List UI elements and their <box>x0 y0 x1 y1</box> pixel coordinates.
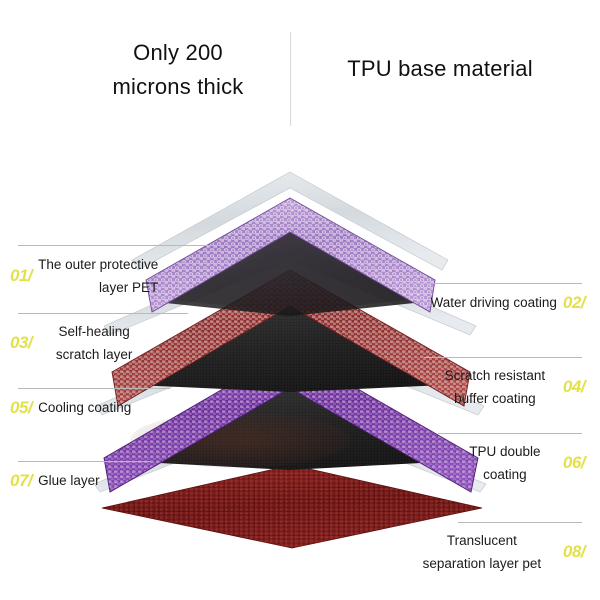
label-group-07[interactable]: 07/ Glue layer <box>10 469 200 492</box>
label-text-03: Self-healing scratch layer <box>32 320 156 366</box>
label-group-05[interactable]: 05/ Cooling coating <box>10 396 200 419</box>
label-text-01: The outer protective layer PET <box>32 253 164 299</box>
label-group-06[interactable]: TPU double coating 06/ <box>380 440 585 486</box>
header-right-text: TPU base material <box>306 52 574 86</box>
label-group-08[interactable]: Translucent separation layer pet 08/ <box>370 529 585 575</box>
label-number-01: 01/ <box>10 266 32 286</box>
leader-line-06 <box>438 433 582 434</box>
label-text-08: Translucent separation layer pet <box>401 529 563 575</box>
leader-line-04 <box>424 357 582 358</box>
label-group-03[interactable]: 03/ Self-healing scratch layer <box>10 320 200 366</box>
label-group-04[interactable]: Scratch resistant buffer coating 04/ <box>380 364 585 410</box>
leader-line-05 <box>18 388 170 389</box>
label-text-07: Glue layer <box>32 469 106 492</box>
label-number-05: 05/ <box>10 398 32 418</box>
label-number-06: 06/ <box>563 453 585 473</box>
label-text-06: TPU double coating <box>447 440 563 486</box>
label-number-08: 08/ <box>563 542 585 562</box>
label-text-04: Scratch resistant buffer coating <box>427 364 563 410</box>
leader-line-07 <box>18 461 150 462</box>
header-divider <box>290 32 291 126</box>
label-group-01[interactable]: 01/ The outer protective layer PET <box>10 253 210 299</box>
label-text-05: Cooling coating <box>32 396 137 419</box>
label-group-02[interactable]: Water driving coating 02/ <box>380 291 585 314</box>
label-number-02: 02/ <box>563 293 585 313</box>
leader-line-01 <box>18 245 210 246</box>
label-number-07: 07/ <box>10 471 32 491</box>
leader-line-08 <box>458 522 582 523</box>
leader-line-03 <box>18 313 188 314</box>
header-left-text: Only 200 microns thick <box>78 36 278 104</box>
leader-line-02 <box>400 283 582 284</box>
label-number-04: 04/ <box>563 377 585 397</box>
label-text-02: Water driving coating <box>425 291 563 314</box>
label-number-03: 03/ <box>10 333 32 353</box>
layer-structure-infographic: Only 200 microns thick TPU base material <box>0 0 600 600</box>
